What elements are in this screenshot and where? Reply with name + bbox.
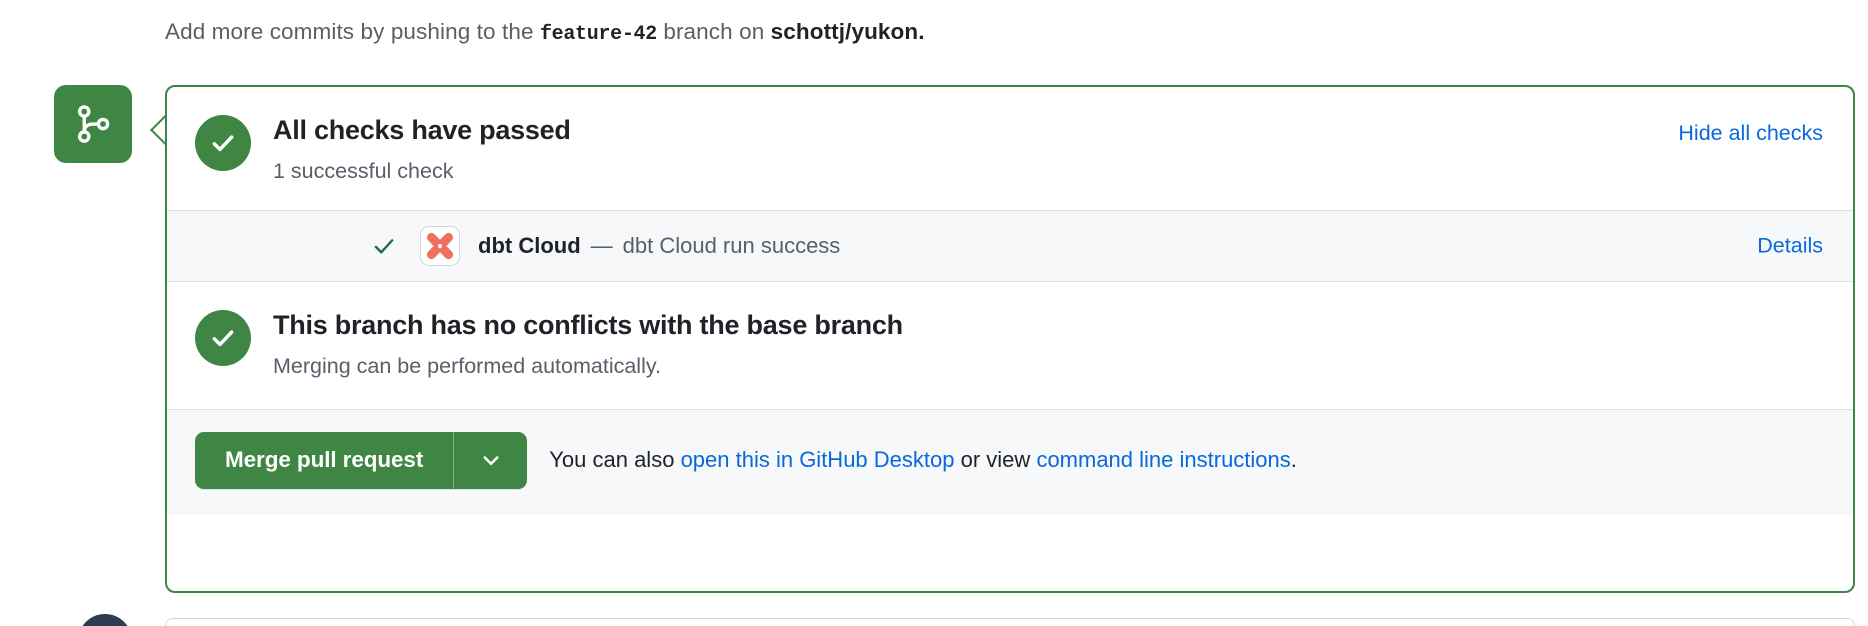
- pull-request-merge-panel: Add more commits by pushing to the featu…: [0, 0, 1868, 626]
- check-separator: —: [591, 233, 613, 259]
- check-details-link[interactable]: Details: [1757, 233, 1823, 258]
- check-row: dbt Cloud — dbt Cloud run success Detail…: [167, 210, 1853, 282]
- checks-summary-header: All checks have passed 1 successful chec…: [167, 87, 1853, 210]
- branch-name: feature-42: [540, 23, 657, 46]
- merge-status-badge: [54, 85, 132, 163]
- merge-button-group: Merge pull request: [195, 432, 527, 489]
- checks-headline: All checks have passed: [273, 114, 571, 148]
- conflicts-headline: This branch has no conflicts with the ba…: [273, 309, 903, 343]
- check-description: dbt Cloud run success: [623, 233, 841, 259]
- dbt-cloud-icon: [420, 226, 460, 266]
- check-circle-icon: [195, 310, 251, 366]
- repository-name: schottj/yukon.: [771, 19, 925, 44]
- conflicts-text: This branch has no conflicts with the ba…: [273, 308, 903, 381]
- merge-pull-request-button[interactable]: Merge pull request: [195, 432, 453, 489]
- push-notice-middle: branch on: [663, 19, 764, 44]
- push-commits-notice: Add more commits by pushing to the featu…: [165, 16, 925, 51]
- merge-footer-note: You can also open this in GitHub Desktop…: [549, 447, 1297, 473]
- check-circle-icon: [195, 115, 251, 171]
- next-timeline-item: [165, 618, 1855, 626]
- check-icon: [367, 233, 401, 259]
- avatar[interactable]: [78, 614, 132, 626]
- footer-note-prefix: You can also: [549, 447, 674, 472]
- github-desktop-link[interactable]: open this in GitHub Desktop: [681, 447, 955, 472]
- push-notice-prefix: Add more commits by pushing to the: [165, 19, 534, 44]
- check-app-name: dbt Cloud: [478, 233, 581, 259]
- command-line-instructions-link[interactable]: command line instructions: [1036, 447, 1290, 472]
- conflicts-subline: Merging can be performed automatically.: [273, 352, 903, 381]
- merge-options-dropdown-button[interactable]: [453, 432, 527, 489]
- conflicts-section: This branch has no conflicts with the ba…: [167, 282, 1853, 410]
- checks-summary-text: All checks have passed 1 successful chec…: [273, 113, 571, 186]
- footer-note-middle: or view: [961, 447, 1031, 472]
- git-merge-icon: [73, 104, 113, 144]
- hide-all-checks-link[interactable]: Hide all checks: [1678, 121, 1823, 146]
- chevron-down-icon: [481, 450, 501, 470]
- merge-box: All checks have passed 1 successful chec…: [165, 85, 1855, 593]
- checks-subline: 1 successful check: [273, 157, 571, 186]
- merge-action-footer: Merge pull request You can also open thi…: [167, 410, 1853, 515]
- footer-note-suffix: .: [1291, 447, 1297, 472]
